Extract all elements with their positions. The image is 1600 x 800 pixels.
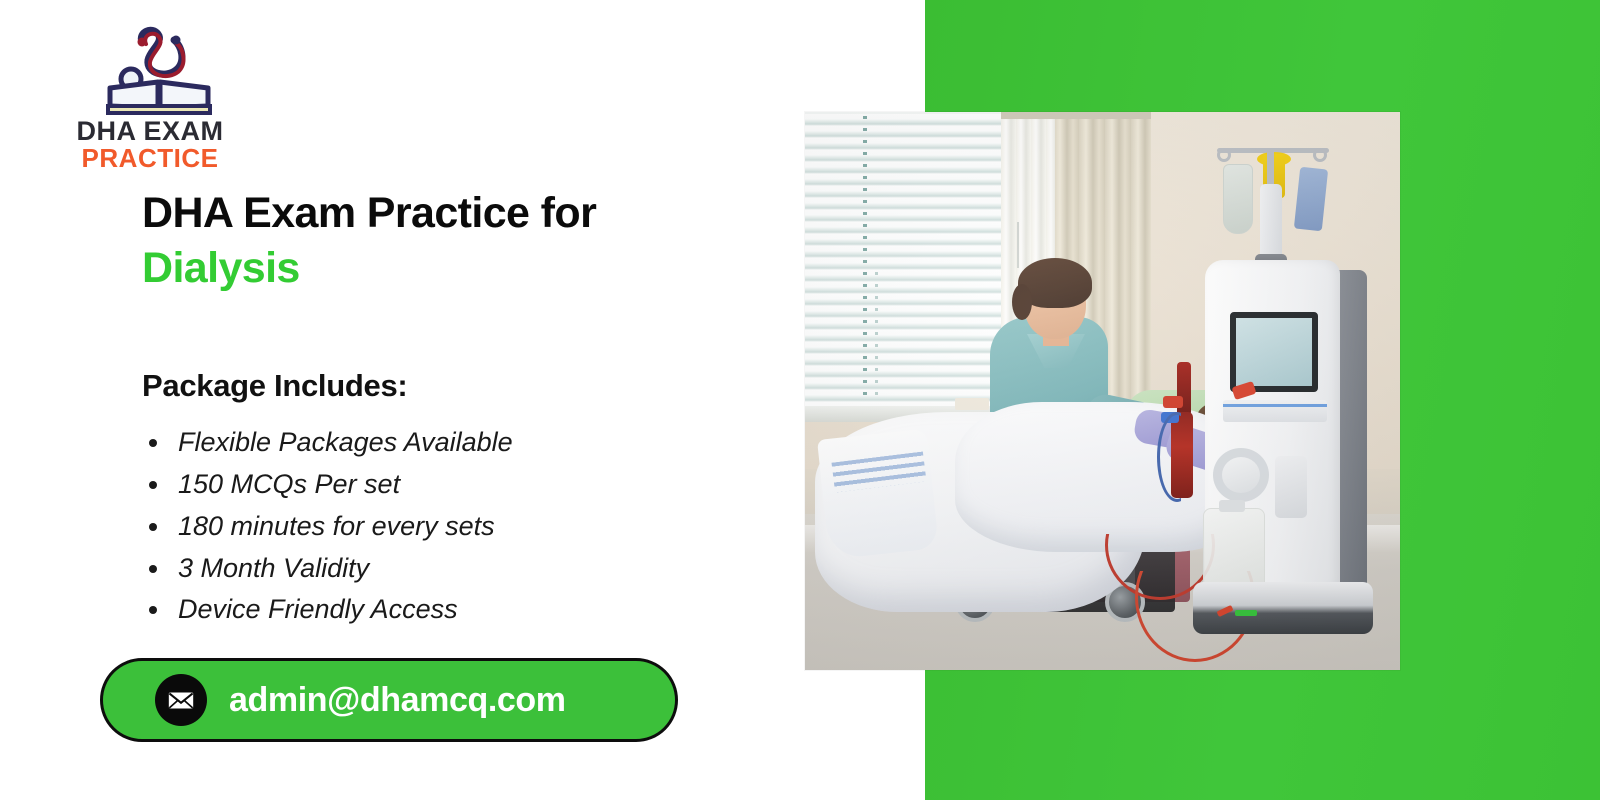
iv-hook: [1313, 148, 1327, 162]
machine-base: [1193, 582, 1373, 634]
photo-curtain-rod: [1001, 112, 1151, 119]
list-item: Flexible Packages Available: [172, 422, 732, 464]
email-cta-button[interactable]: admin@dhamcq.com: [100, 658, 678, 742]
email-address: admin@dhamcq.com: [229, 681, 566, 720]
iv-tube-line: [1017, 222, 1019, 268]
logo-line-1: DHA EXAM: [40, 118, 260, 145]
fluid-container-cap: [1219, 500, 1245, 512]
logo-wordmark: DHA EXAM PRACTICE: [40, 118, 260, 172]
headline-line-1: DHA Exam Practice for: [142, 186, 762, 241]
logo-line-2: PRACTICE: [40, 145, 260, 172]
striped-towel: [817, 429, 939, 560]
dialysis-photo: [805, 112, 1400, 670]
machine-display-screen: [1230, 312, 1318, 392]
list-item: Device Friendly Access: [172, 589, 732, 631]
iv-hook: [1217, 148, 1231, 162]
red-connector: [1163, 396, 1183, 408]
machine-accent-stripe: [1223, 404, 1327, 407]
brand-logo[interactable]: DHA EXAM PRACTICE: [40, 22, 260, 162]
bed-blanket-upper: [955, 402, 1245, 552]
list-item: 3 Month Validity: [172, 548, 732, 590]
machine-cartridge: [1275, 456, 1307, 518]
package-feature-list: Flexible Packages Available 150 MCQs Per…: [172, 422, 732, 631]
nurse-hair-side: [1012, 284, 1032, 320]
list-item: 180 minutes for every sets: [172, 506, 732, 548]
blind-cord: [863, 116, 867, 402]
sill-object: [955, 398, 989, 410]
package-includes-title: Package Includes:: [142, 368, 407, 404]
window-blinds-icon: [805, 114, 1005, 406]
blind-cord-secondary: [875, 272, 878, 402]
headline-line-2: Dialysis: [142, 241, 762, 296]
envelope-icon: [155, 674, 207, 726]
fluid-container: [1203, 508, 1265, 590]
machine-status-led-green: [1235, 610, 1257, 616]
page-title: DHA Exam Practice for Dialysis: [142, 186, 762, 296]
list-item: 150 MCQs Per set: [172, 464, 732, 506]
stethoscope-over-book-icon: [90, 24, 230, 116]
iv-bag: [1223, 164, 1253, 234]
blood-pump-rotor: [1213, 448, 1269, 502]
